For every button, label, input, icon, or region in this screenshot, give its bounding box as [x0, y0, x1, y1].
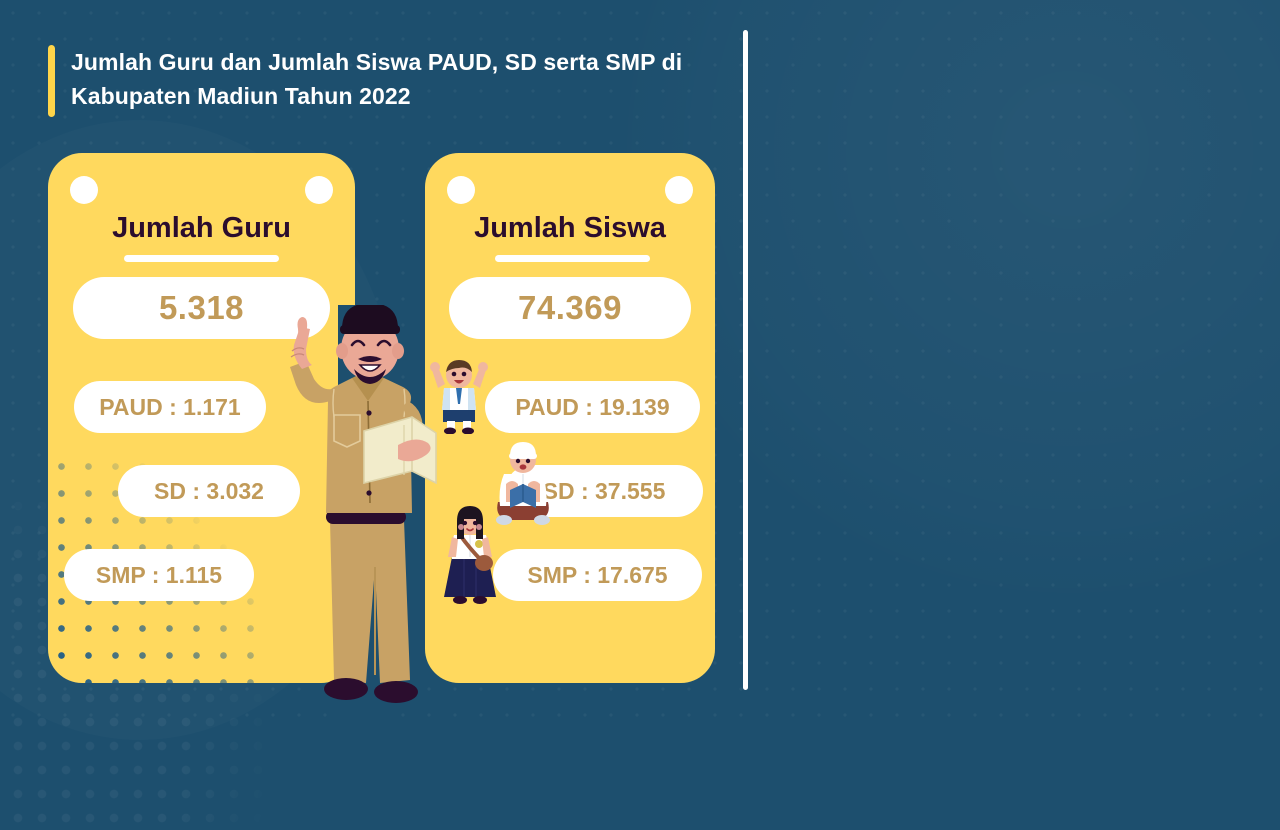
card-siswa-title: Jumlah Siswa [425, 212, 715, 245]
card-guru-title-rule [124, 255, 279, 262]
student-smp-illustration [438, 505, 502, 605]
card-guru-breakdown-paud: PAUD : 1.171 [74, 381, 266, 433]
student-paud-illustration [428, 358, 490, 434]
punch-hole-left [70, 176, 98, 204]
right-panel: Jumlah Guru dan Jumlah Siswa jenjang pen… [745, 0, 1280, 720]
card-guru-title: Jumlah Guru [48, 212, 355, 245]
left-heading-text: Jumlah Guru dan Jumlah Siswa PAUD, SD se… [71, 45, 711, 113]
card-siswa-total: 74.369 [449, 277, 691, 339]
card-siswa-breakdown-paud: PAUD : 19.139 [485, 381, 700, 433]
left-panel-heading: Jumlah Guru dan Jumlah Siswa PAUD, SD se… [48, 45, 711, 117]
card-siswa-breakdown-smp: SMP : 17.675 [493, 549, 702, 601]
punch-hole-left [447, 176, 475, 204]
left-panel: Jumlah Guru dan Jumlah Siswa PAUD, SD se… [0, 0, 745, 720]
punch-hole-right [305, 176, 333, 204]
punch-hole-right [665, 176, 693, 204]
card-guru-breakdown-smp: SMP : 1.115 [64, 549, 254, 601]
accent-bar [48, 45, 55, 117]
card-siswa-title-rule [495, 255, 650, 262]
